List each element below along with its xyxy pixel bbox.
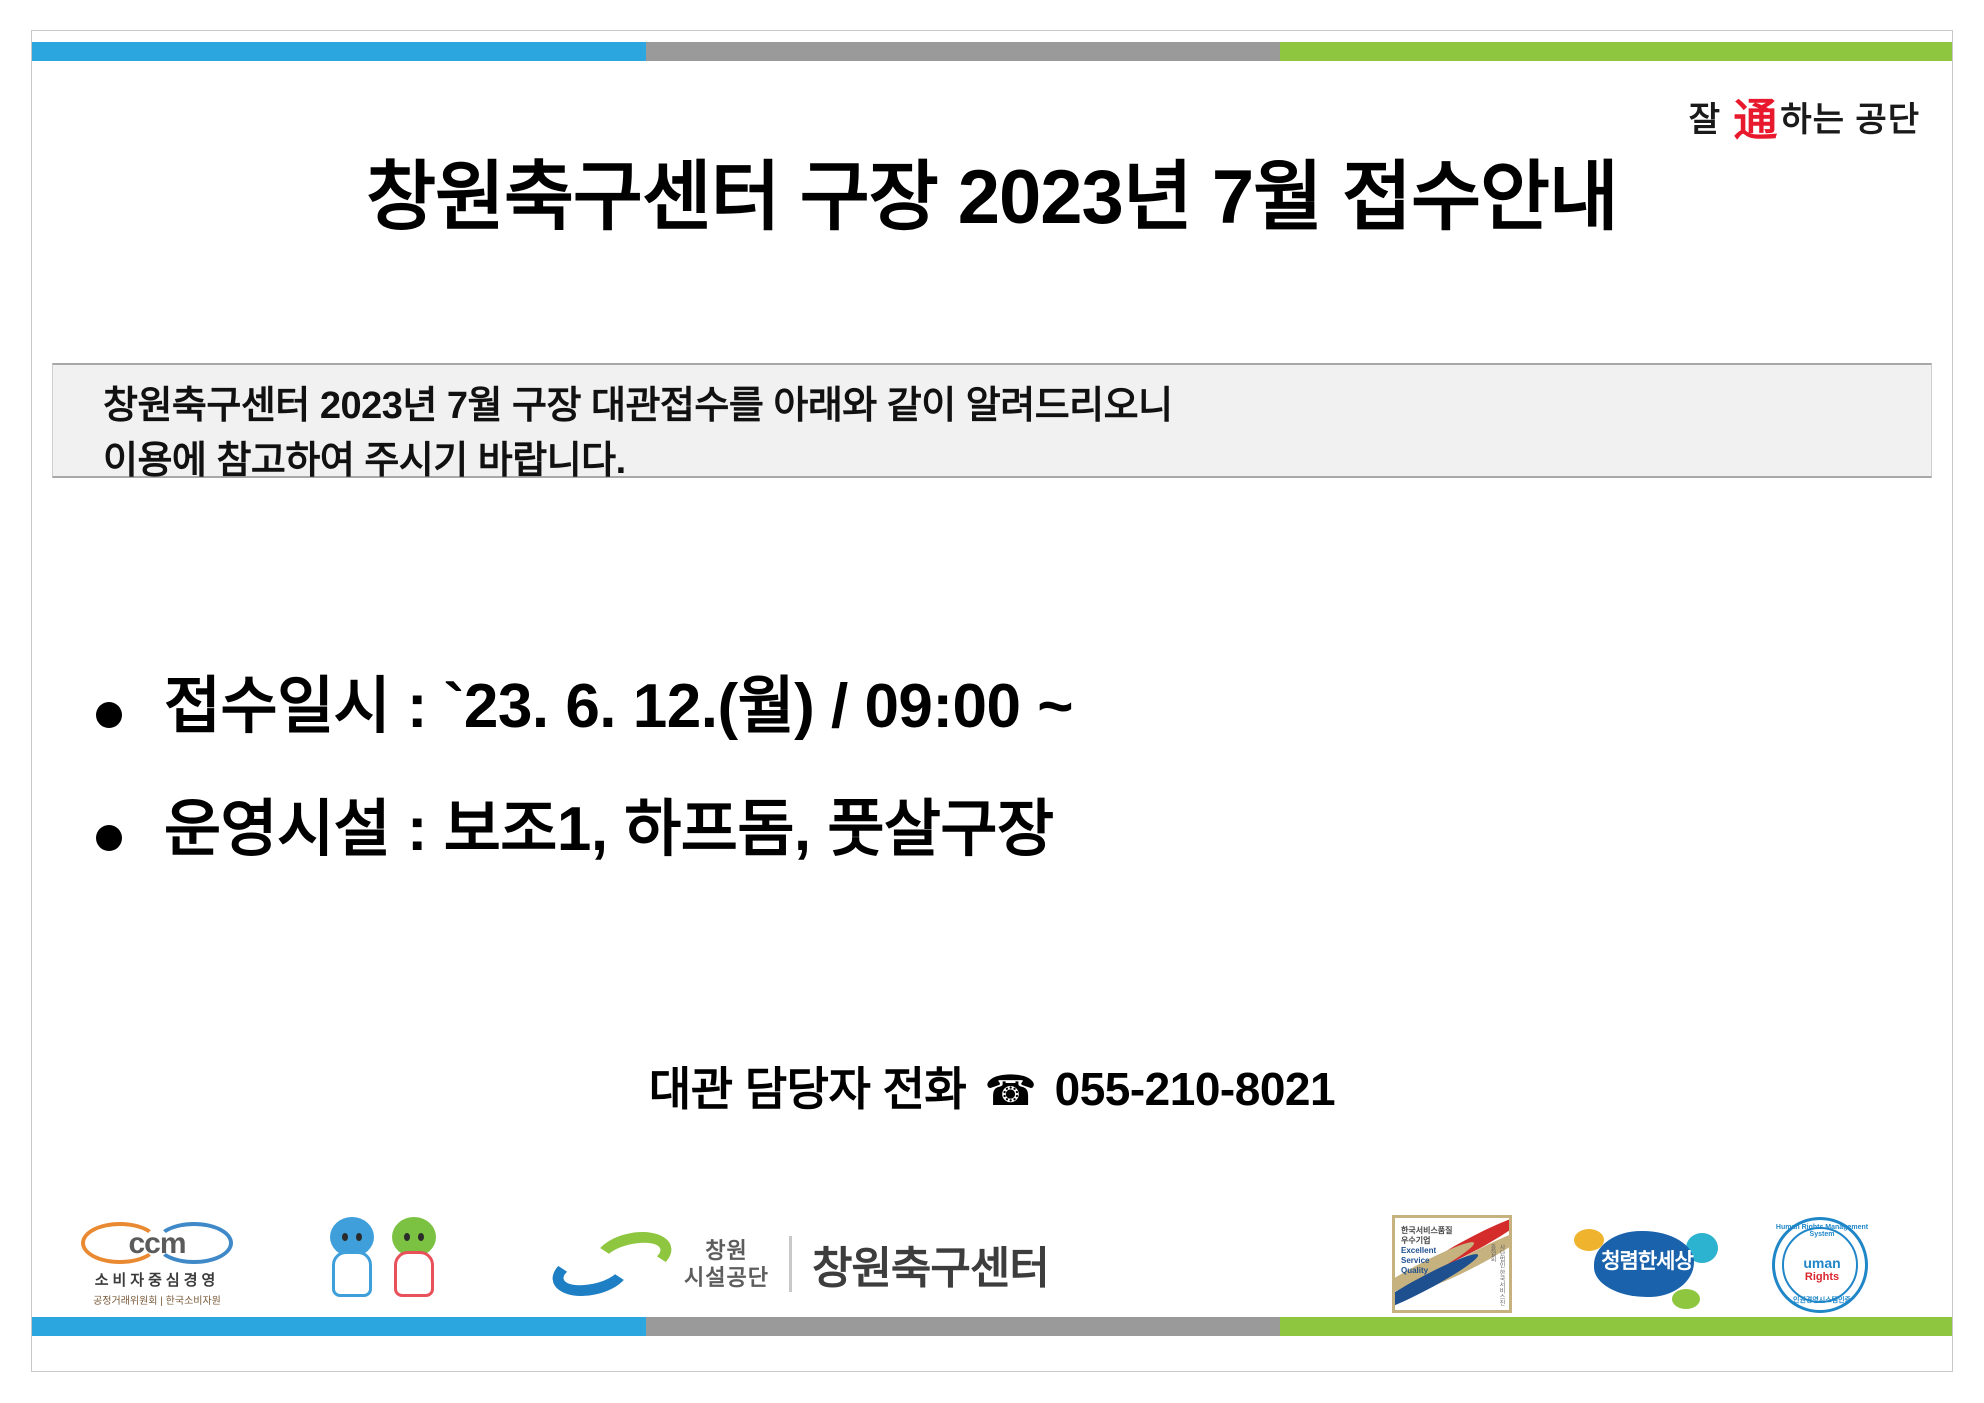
human-rights-rights: Rights bbox=[1770, 1271, 1874, 1283]
notice-box: 창원축구센터 2023년 7월 구장 대관접수를 아래와 같이 알려드리오니 이… bbox=[52, 363, 1932, 478]
contact-line: 대관 담당자 전화 ☎ 055-210-8021 bbox=[0, 1053, 1984, 1119]
sq-en-line-2: Service bbox=[1401, 1256, 1453, 1266]
org-line-2: 시설공단 bbox=[684, 1264, 769, 1292]
mascot-blue-body bbox=[332, 1251, 372, 1297]
slogan-prefix: 잘 bbox=[1689, 101, 1732, 139]
mascot-green-icon bbox=[389, 1217, 439, 1305]
top-color-bar bbox=[32, 42, 1952, 61]
ccm-korean-label: 소비자중심경영 bbox=[62, 1269, 252, 1290]
color-bar-blue-segment bbox=[32, 1317, 646, 1336]
clean-world-label: 청렴한세상 bbox=[1572, 1245, 1722, 1275]
color-bar-gray-segment bbox=[646, 42, 1280, 61]
reception-datetime-text: 접수일시 : `23. 6. 12.(월) / 09:00 ~ bbox=[164, 672, 1073, 741]
organization-slogan: 잘 通하는 공단 bbox=[1689, 84, 1920, 148]
service-quality-inner: 한국서비스품질 우수기업 Excellent Service Quality 사… bbox=[1395, 1218, 1509, 1310]
notice-line-2: 이용에 참고하여 주시기 바랍니다. bbox=[103, 434, 1931, 489]
color-bar-green-segment bbox=[1280, 1317, 1952, 1336]
mascot-eye bbox=[356, 1233, 362, 1241]
ccm-authority-label: 공정거래위원회 | 한국소비자원 bbox=[62, 1292, 252, 1307]
changwon-center-logo: 창원 시설공단 창원축구센터 bbox=[552, 1219, 1049, 1309]
soccer-center-wordmark: 창원축구센터 bbox=[812, 1232, 1049, 1296]
org-line-1: 창원 bbox=[684, 1237, 769, 1265]
contact-label: 대관 담당자 전화 bbox=[649, 1063, 966, 1115]
service-quality-cert-logo: 한국서비스품질 우수기업 Excellent Service Quality 사… bbox=[1392, 1215, 1512, 1313]
mascot-eye bbox=[342, 1233, 348, 1241]
clean-world-logo: 청렴한세상 bbox=[1572, 1221, 1722, 1309]
mascot-eye bbox=[404, 1233, 410, 1241]
slogan-suffix: 하는 공단 bbox=[1780, 101, 1920, 139]
color-bar-green-segment bbox=[1280, 42, 1952, 61]
sq-en-line-3: Quality bbox=[1401, 1266, 1453, 1276]
notice-line-1: 창원축구센터 2023년 7월 구장 대관접수를 아래와 같이 알려드리오니 bbox=[103, 379, 1931, 434]
mascot-blue-icon bbox=[327, 1217, 377, 1305]
human-rights-wordmark: uman Rights bbox=[1770, 1255, 1874, 1283]
color-bar-blue-segment bbox=[32, 42, 646, 61]
ccm-wordmark: ccm bbox=[67, 1227, 247, 1261]
human-rights-bottom-label: 인권경영시스템인증 bbox=[1770, 1295, 1874, 1305]
list-item: 접수일시 : `23. 6. 12.(월) / 09:00 ~ bbox=[96, 672, 1796, 741]
human-rights-top-label: Human Rights Management System bbox=[1770, 1224, 1874, 1238]
footer-logos: ccm 소비자중심경영 공정거래위원회 | 한국소비자원 bbox=[52, 1215, 1932, 1315]
facilities-text: 운영시설 : 보조1, 하프돔, 풋살구장 bbox=[164, 795, 1054, 864]
slogan-hanja-tong: 通 bbox=[1733, 96, 1778, 145]
telephone-icon: ☎ bbox=[985, 1067, 1037, 1114]
human-rights-logo: Human Rights Management System uman Righ… bbox=[1770, 1215, 1874, 1315]
ccm-mark-icon: ccm bbox=[67, 1221, 247, 1267]
poster-root: 잘 通하는 공단 창원축구센터 구장 2023년 7월 접수안내 창원축구센터 … bbox=[0, 0, 1984, 1403]
sq-kr-line-2: 우수기업 bbox=[1401, 1236, 1453, 1246]
page-title: 창원축구센터 구장 2023년 7월 접수안내 bbox=[0, 158, 1984, 239]
sq-kr-line-1: 한국서비스품질 bbox=[1401, 1226, 1453, 1236]
sq-en-line-1: Excellent bbox=[1401, 1246, 1453, 1256]
service-quality-text: 한국서비스품질 우수기업 Excellent Service Quality bbox=[1401, 1226, 1453, 1276]
bullet-dot-icon bbox=[96, 825, 122, 851]
bullet-dot-icon bbox=[96, 702, 122, 728]
details-list: 접수일시 : `23. 6. 12.(월) / 09:00 ~ 운영시설 : 보… bbox=[96, 672, 1796, 919]
logo-divider bbox=[789, 1236, 792, 1292]
contact-phone-number: 055-210-8021 bbox=[1055, 1063, 1335, 1115]
mascot-eye bbox=[418, 1233, 424, 1241]
mascot-pair-logo bbox=[327, 1217, 457, 1309]
ccm-logo: ccm 소비자중심경영 공정거래위원회 | 한국소비자원 bbox=[62, 1221, 252, 1307]
clean-dot-green-icon bbox=[1672, 1289, 1700, 1309]
human-rights-human: uman bbox=[1803, 1255, 1840, 1271]
changwon-swoosh-icon bbox=[552, 1233, 672, 1295]
color-bar-gray-segment bbox=[646, 1317, 1280, 1336]
mascot-green-body bbox=[394, 1251, 434, 1297]
list-item: 운영시설 : 보조1, 하프돔, 풋살구장 bbox=[96, 795, 1796, 864]
sq-side-label: 사단법인 한국서비스진흥협회 bbox=[1488, 1244, 1506, 1310]
changwon-facilities-corp-name: 창원 시설공단 bbox=[684, 1237, 769, 1292]
bottom-color-bar bbox=[32, 1317, 1952, 1336]
